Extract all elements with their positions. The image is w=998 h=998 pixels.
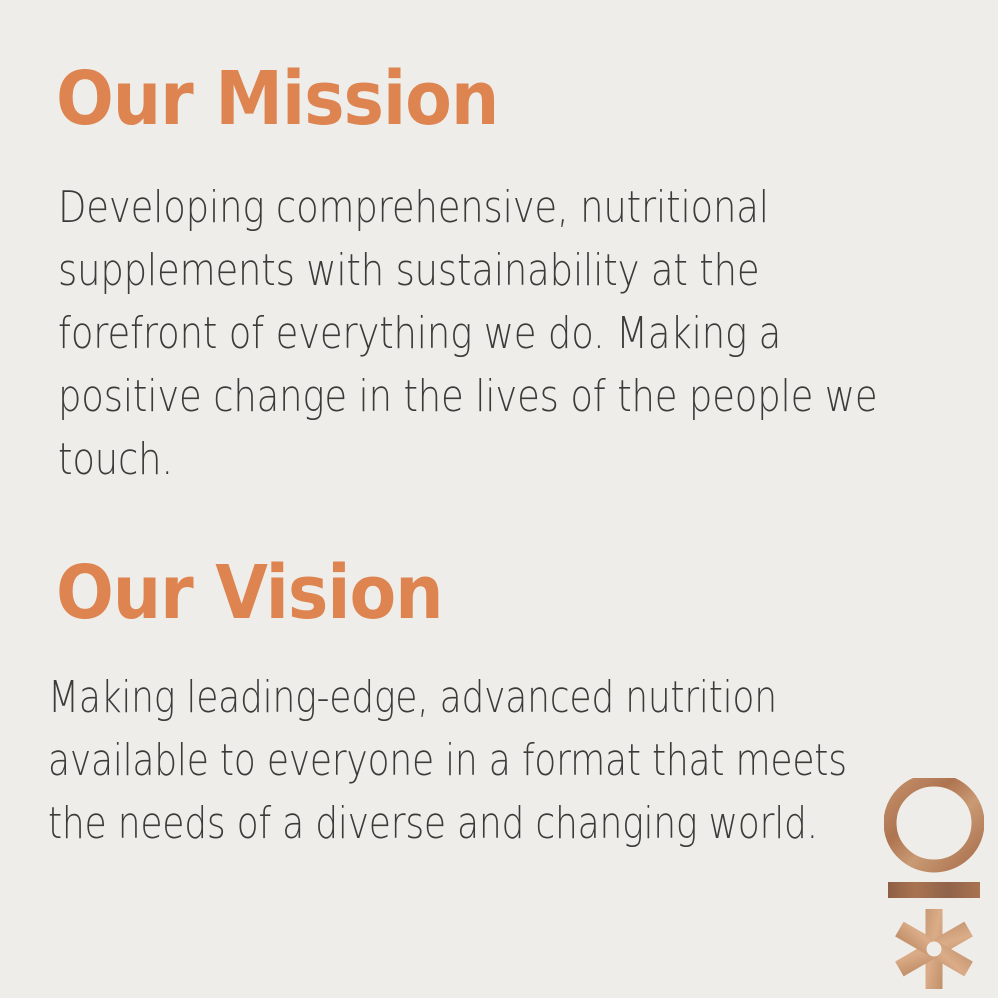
vision-heading: Our Vision: [56, 556, 443, 630]
logo-ring-icon: [890, 780, 978, 866]
logo-asterisk-icon: [895, 909, 973, 989]
mission-vision-poster: Our Mission Developing comprehensive, nu…: [0, 0, 998, 998]
brand-logo: [884, 778, 984, 992]
mission-heading: Our Mission: [56, 62, 498, 136]
mission-body-text: Developing comprehensive, nutritional su…: [58, 176, 932, 491]
vision-body-text: Making leading-edge, advanced nutrition …: [48, 666, 934, 855]
logo-bar-icon: [888, 882, 980, 898]
brand-logo-svg: [884, 778, 984, 992]
